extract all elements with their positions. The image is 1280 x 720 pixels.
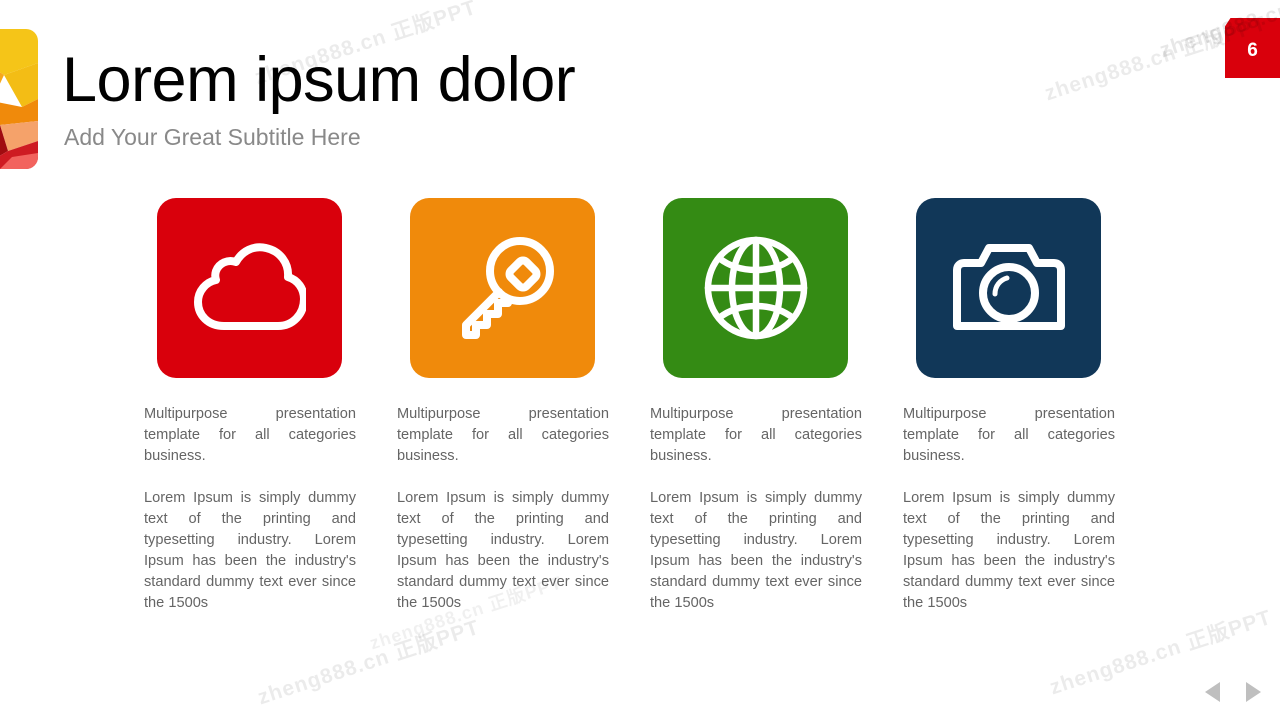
cloud-icon — [194, 242, 306, 334]
page-subtitle: Add Your Great Subtitle Here — [64, 124, 361, 151]
slide-number-text: 6 — [1225, 18, 1280, 78]
slide-number-badge: 6 — [1225, 18, 1280, 78]
next-slide-arrow-icon[interactable] — [1246, 682, 1261, 702]
icon-tile-cloud[interactable] — [157, 198, 342, 378]
key-icon — [450, 235, 556, 341]
icon-tile-globe[interactable] — [663, 198, 848, 378]
slide-navigation — [1205, 682, 1261, 702]
icon-tile-key[interactable] — [410, 198, 595, 378]
content-columns: Multipurpose presentation template for a… — [144, 198, 1134, 614]
column-cloud: Multipurpose presentation template for a… — [144, 198, 356, 614]
paragraph-primary: Multipurpose presentation template for a… — [397, 404, 609, 467]
paragraph-primary: Multipurpose presentation template for a… — [144, 404, 356, 467]
paragraph-secondary: Lorem Ipsum is simply dummy text of the … — [144, 488, 356, 614]
watermark: zheng888.cn 正版PPT — [253, 611, 483, 711]
column-text-globe: Multipurpose presentation template for a… — [650, 404, 862, 614]
column-key: Multipurpose presentation template for a… — [397, 198, 609, 614]
column-globe: Multipurpose presentation template for a… — [650, 198, 862, 614]
page-title: Lorem ipsum dolor — [62, 44, 575, 116]
prev-slide-arrow-icon[interactable] — [1205, 682, 1220, 702]
paragraph-primary: Multipurpose presentation template for a… — [650, 404, 862, 467]
column-text-cloud: Multipurpose presentation template for a… — [144, 404, 356, 614]
column-text-key: Multipurpose presentation template for a… — [397, 404, 609, 614]
column-text-camera: Multipurpose presentation template for a… — [903, 404, 1115, 614]
globe-icon — [702, 234, 810, 342]
icon-tile-camera[interactable] — [916, 198, 1101, 378]
paragraph-secondary: Lorem Ipsum is simply dummy text of the … — [397, 488, 609, 614]
paragraph-secondary: Lorem Ipsum is simply dummy text of the … — [903, 488, 1115, 614]
paragraph-secondary: Lorem Ipsum is simply dummy text of the … — [650, 488, 862, 614]
camera-icon — [953, 242, 1065, 334]
paragraph-primary: Multipurpose presentation template for a… — [903, 404, 1115, 467]
brand-logo — [0, 29, 38, 169]
column-camera: Multipurpose presentation template for a… — [903, 198, 1115, 614]
